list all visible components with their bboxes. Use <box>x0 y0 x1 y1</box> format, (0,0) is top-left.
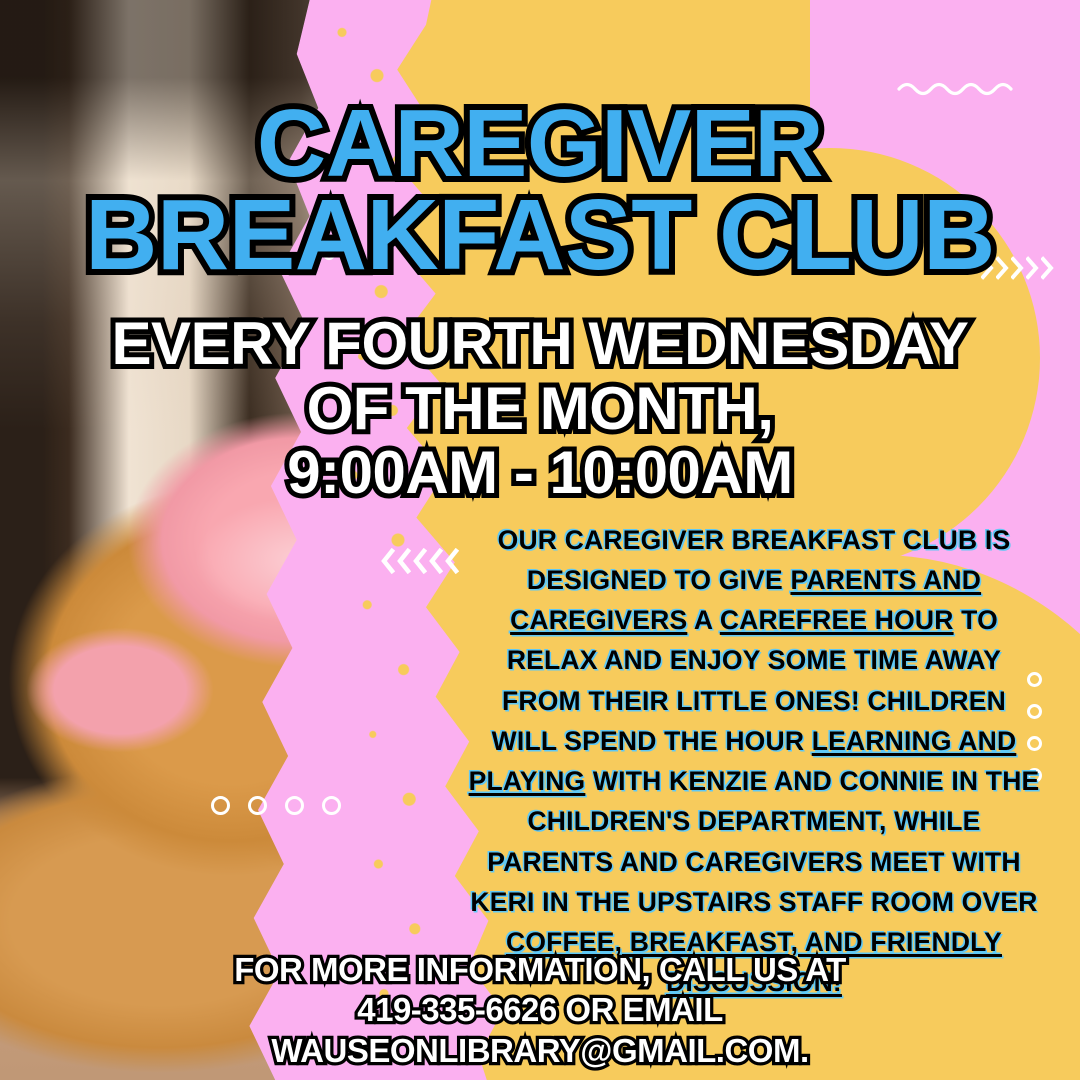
circle-outline-icon <box>248 796 267 815</box>
poster-canvas: CAREGIVER BREAKFAST CLUB EVERY FOURTH WE… <box>0 0 1080 1080</box>
chevron-left-icon <box>413 548 427 574</box>
circle-outline-icon <box>285 796 304 815</box>
poster-footer-contact: FOR MORE INFORMATION, CALL US AT 419-335… <box>0 950 1080 1071</box>
chevron-left-icon <box>381 548 395 574</box>
poster-subtitle: EVERY FOURTH WEDNESDAY OF THE MONTH, 9:0… <box>0 312 1080 506</box>
dots-horizontal-group <box>211 796 341 815</box>
poster-title: CAREGIVER BREAKFAST CLUB <box>0 100 1080 280</box>
chevron-left-icon <box>397 548 411 574</box>
footer-line-1: FOR MORE INFORMATION, CALL US AT <box>0 950 1080 990</box>
subtitle-line-1: EVERY FOURTH WEDNESDAY <box>0 312 1080 377</box>
footer-line-2: 419-335-6626 OR EMAIL <box>0 990 1080 1030</box>
body-underlined-phrase: CAREFREE HOUR <box>720 605 954 635</box>
circle-outline-icon <box>322 796 341 815</box>
subtitle-line-3: 9:00AM - 10:00AM <box>0 441 1080 506</box>
title-line-2: BREAKFAST CLUB <box>0 189 1080 281</box>
subtitle-line-2: OF THE MONTH, <box>0 377 1080 442</box>
footer-line-3: WAUSEONLIBRARY@GMAIL.COM. <box>0 1031 1080 1071</box>
chevron-left-icon <box>445 548 459 574</box>
chevron-left-icon <box>429 548 443 574</box>
chevrons-left-group <box>381 548 459 574</box>
circle-outline-icon <box>211 796 230 815</box>
poster-body-text: OUR CAREGIVER BREAKFAST CLUB IS DESIGNED… <box>468 520 1040 1003</box>
body-text-run: A <box>687 605 720 635</box>
title-line-1: CAREGIVER <box>0 100 1080 188</box>
